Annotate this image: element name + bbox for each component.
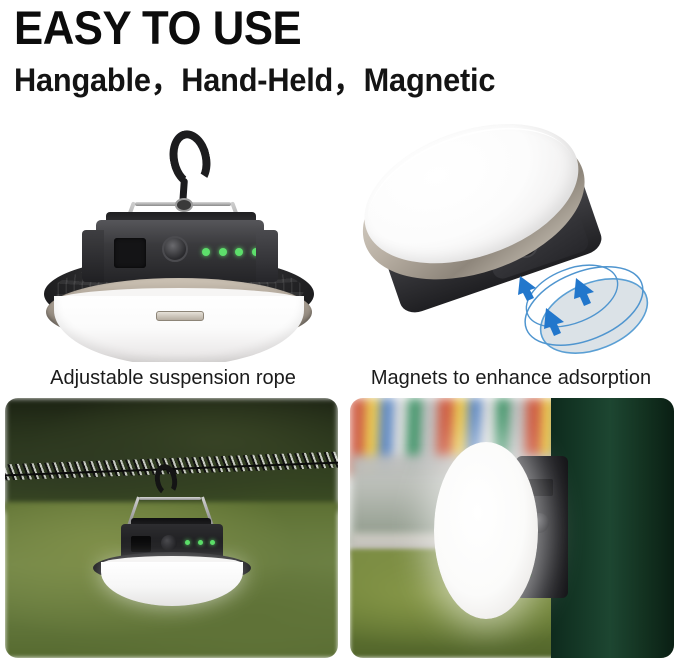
outdoor-scene <box>350 398 674 658</box>
battery-led-row <box>185 540 215 546</box>
hook-icon <box>164 126 215 191</box>
magnetic-lamp-product-shot <box>352 118 679 362</box>
lamp-magnet-on-pole-photo <box>350 398 674 658</box>
diffuser-dome <box>101 562 243 606</box>
ring-latch <box>156 311 204 321</box>
battery-led-row <box>202 246 260 258</box>
battery-led <box>252 248 260 256</box>
hook-icon <box>152 462 179 497</box>
power-button[interactable] <box>162 236 188 262</box>
caption-suspension-rope: Adjustable suspension rope <box>8 365 338 391</box>
hanging-lamp-product-shot <box>14 118 344 362</box>
diffuser-dome <box>434 442 537 619</box>
lamp-upright-illustration <box>44 128 314 358</box>
battery-led <box>219 248 227 256</box>
outdoor-scene <box>5 398 338 658</box>
lamp-tilted-illustration <box>360 122 670 358</box>
battery-led <box>235 248 243 256</box>
magnet-arrow <box>518 276 536 301</box>
bail-crossbar <box>139 497 201 500</box>
page-title: EASY TO USE <box>14 2 301 54</box>
diffuser-dome <box>54 296 304 362</box>
battery-led <box>198 540 203 545</box>
power-button[interactable] <box>161 535 177 551</box>
caption-magnets: Magnets to enhance adsorption <box>345 365 677 391</box>
charging-port <box>114 238 146 268</box>
lamp-hanging-outdoors-photo <box>5 398 338 658</box>
hanging-lamp <box>77 464 267 604</box>
charging-port <box>131 536 151 552</box>
battery-led <box>185 540 190 545</box>
magnetic-field-graphic <box>502 254 677 360</box>
battery-led <box>202 248 210 256</box>
battery-led <box>210 540 215 545</box>
bail-ring <box>175 198 193 212</box>
magnet-mounted-lamp <box>434 442 570 619</box>
page-subtitle: Hangable，Hand-Held，Magnetic <box>14 60 495 100</box>
control-housing <box>96 220 264 282</box>
